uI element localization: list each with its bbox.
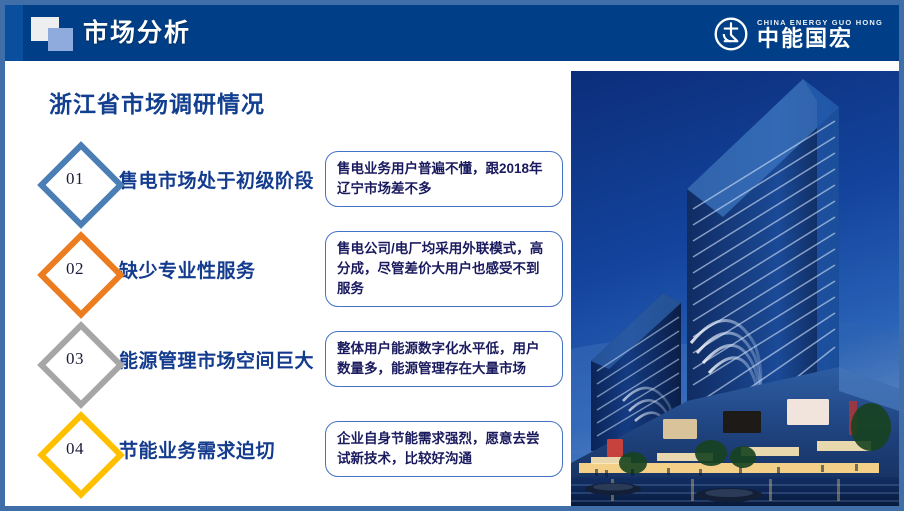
item-note-bubble: 企业自身节能需求强烈，愿意去尝试新技术，比较好沟通 (325, 421, 563, 477)
header-accent-strip (5, 5, 23, 61)
brand-text-block: CHINA ENERGY GUO HONG 中能国宏 (757, 18, 883, 50)
guohong-circle-logo (713, 16, 749, 52)
brand-name-en: CHINA ENERGY GUO HONG (757, 18, 883, 27)
item-label: 售电市场处于初级阶段 (119, 166, 325, 193)
list-item[interactable]: 03 能源管理市场空间巨大 整体用户能源数字化水平低，用户数量多，能源管理存在大… (33, 317, 563, 401)
section-title: 浙江省市场调研情况 (49, 85, 265, 119)
list-item[interactable]: 04 节能业务需求迫切 企业自身节能需求强烈，愿意去尝试新技术，比较好沟通 (33, 407, 563, 491)
content-left-column: 浙江省市场调研情况 01 售电市场处于初级阶段 售电业务用户普遍不懂，跟2018… (5, 61, 565, 511)
page-title: 市场分析 (83, 16, 191, 50)
brand-logo: CHINA ENERGY GUO HONG 中能国宏 (713, 15, 883, 53)
blue-skyscraper-night-rendering (571, 71, 899, 506)
item-number: 01 (33, 137, 117, 221)
brand-name-cn: 中能国宏 (757, 28, 883, 50)
slide-header: 市场分析 CHINA ENERGY GUO HONG 中能国宏 (5, 5, 899, 61)
item-number: 03 (33, 317, 117, 401)
diamond-badge: 04 (33, 407, 117, 491)
diamond-badge: 03 (33, 317, 117, 401)
square-blue-shape (48, 28, 73, 51)
list-item[interactable]: 01 售电市场处于初级阶段 售电业务用户普遍不懂，跟2018年辽宁市场差不多 (33, 137, 563, 221)
diamond-badge: 02 (33, 227, 117, 311)
list-item[interactable]: 02 缺少专业性服务 售电公司/电厂均采用外联模式，高分成，尽管差价大用户也感受… (33, 227, 563, 311)
item-number: 04 (33, 407, 117, 491)
item-note-bubble: 售电业务用户普遍不懂，跟2018年辽宁市场差不多 (325, 151, 563, 207)
item-note-bubble: 售电公司/电厂均采用外联模式，高分成，尽管差价大用户也感受不到服务 (325, 231, 563, 307)
item-label: 能源管理市场空间巨大 (119, 346, 325, 373)
item-note-bubble: 整体用户能源数字化水平低，用户数量多，能源管理存在大量市场 (325, 331, 563, 387)
item-label: 节能业务需求迫切 (119, 436, 325, 463)
item-label: 缺少专业性服务 (119, 256, 325, 283)
diamond-badge: 01 (33, 137, 117, 221)
item-number: 02 (33, 227, 117, 311)
two-squares-icon (31, 17, 83, 53)
slide-canvas: 市场分析 CHINA ENERGY GUO HONG 中能国宏 浙江省市场调研情… (0, 0, 904, 511)
